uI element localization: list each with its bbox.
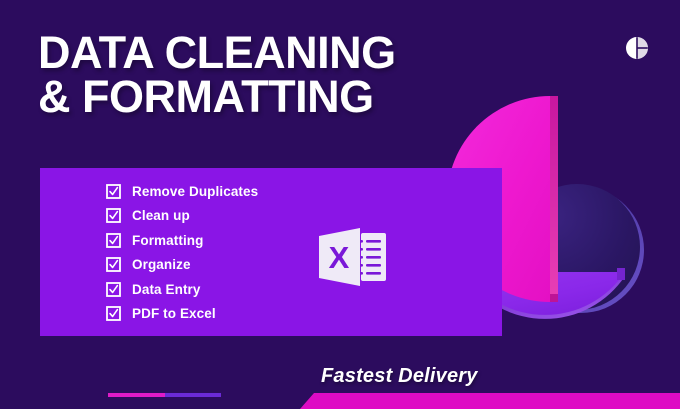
feature-label: PDF to Excel	[132, 306, 216, 321]
list-item: Organize	[106, 253, 258, 278]
microsoft-excel-icon: X	[315, 226, 390, 288]
page-title: DATA CLEANING & FORMATTING	[38, 31, 518, 119]
pie-chart-icon	[624, 35, 650, 61]
feature-list: Remove Duplicates Clean up	[106, 179, 258, 326]
list-item: Formatting	[106, 228, 258, 253]
poster-canvas: DATA CLEANING & FORMATTING Remove Duplic…	[0, 0, 680, 409]
accent-rule-segment-purple	[165, 393, 222, 397]
checkbox-checked-icon	[106, 184, 121, 199]
feature-label: Organize	[132, 257, 191, 272]
checkbox-checked-icon	[106, 282, 121, 297]
checkbox-checked-icon	[106, 306, 121, 321]
checkbox-checked-icon	[106, 233, 121, 248]
list-item: Remove Duplicates	[106, 179, 258, 204]
headline-line-1: DATA CLEANING	[38, 31, 518, 75]
accent-rule-segment-magenta	[108, 393, 165, 397]
feature-label: Clean up	[132, 208, 190, 223]
checkbox-checked-icon	[106, 208, 121, 223]
dark-back-circle	[514, 184, 644, 313]
excel-letter: X	[329, 240, 350, 275]
list-item: Data Entry	[106, 277, 258, 302]
headline-line-2: & FORMATTING	[38, 75, 518, 119]
list-item: PDF to Excel	[106, 302, 258, 327]
feature-panel: Remove Duplicates Clean up	[40, 168, 502, 336]
feature-label: Formatting	[132, 233, 204, 248]
feature-label: Data Entry	[132, 282, 201, 297]
accent-rule	[108, 393, 221, 397]
feature-label: Remove Duplicates	[132, 184, 258, 199]
bottom-slant-bar	[300, 393, 680, 409]
checkbox-checked-icon	[106, 257, 121, 272]
tagline: Fastest Delivery	[321, 365, 478, 388]
list-item: Clean up	[106, 204, 258, 229]
